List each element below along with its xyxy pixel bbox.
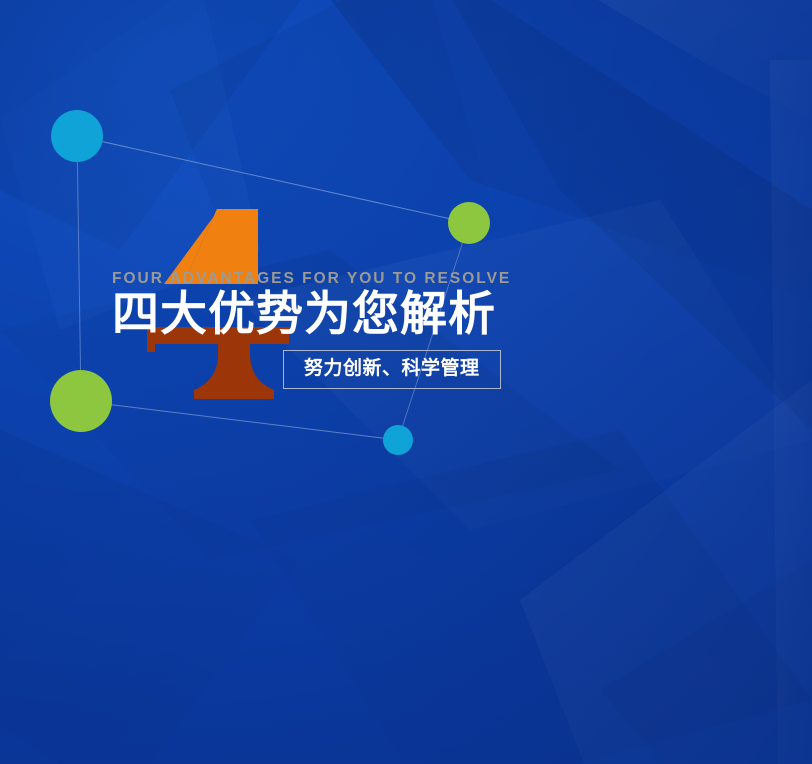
promo-banner: FOUR ADVANTAGES FOR YOU TO RESOLVE 四大优势为… [0,0,812,764]
link-cyan-to-green-large [77,136,81,401]
node-green-right [448,202,490,244]
banner-tagline-text: 努力创新、科学管理 [304,358,480,379]
link-green-large-to-cyan-small [81,401,398,440]
link-cyan-to-green-right [77,136,469,223]
node-cyan-small [383,425,413,455]
node-cyan-large [51,110,103,162]
node-green-large [50,370,112,432]
banner-headline: 四大优势为您解析 [112,286,496,342]
banner-tagline-box: 努力创新、科学管理 [283,350,501,389]
